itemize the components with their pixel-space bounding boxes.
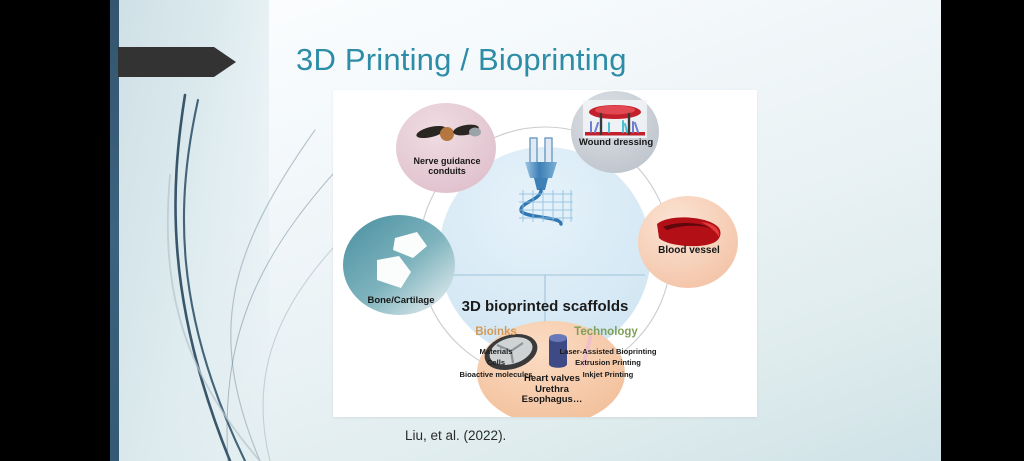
figure-caption: Liu, et al. (2022).: [405, 428, 506, 443]
bubble-blood-vessel: [638, 196, 738, 288]
arrow-banner-icon: [118, 44, 236, 80]
letterbox-left: [0, 0, 110, 461]
bubble-label-nerve-guidance-conduits: Nerve guidance conduits: [391, 156, 503, 176]
bone-line-0: Bone/Cartilage: [345, 296, 457, 307]
page-title: 3D Printing / Bioprinting: [296, 42, 627, 78]
bubble-label-bone-cartilage: Bone/Cartilage: [345, 296, 457, 307]
figure-column-head-technology: Technology: [551, 326, 661, 338]
figure-panel: 3D bioprinted scaffolds Bioinks Technolo…: [333, 90, 757, 417]
technology-item-1: Extrusion Printing: [547, 357, 669, 368]
bubble-label-wound-dressing: Wound dressing: [560, 138, 672, 149]
bubble-label-heart-valves: Heart valves Urethra Esophagus…: [493, 374, 611, 406]
screenshot-stage: 3D Printing / Bioprinting: [0, 0, 1024, 461]
slide-canvas: 3D Printing / Bioprinting: [110, 0, 941, 461]
figure-column-head-bioinks: Bioinks: [451, 326, 541, 338]
bubble-wound-dressing: [571, 91, 659, 173]
bioinks-item-1: Cells: [441, 357, 551, 368]
wound-line-0: Wound dressing: [560, 138, 672, 149]
nerve-line-1: conduits: [391, 166, 503, 176]
letterbox-right: [941, 0, 1024, 461]
bubble-nerve-guidance-conduits: [396, 103, 496, 193]
vessel-line-0: Blood vessel: [635, 245, 743, 256]
valves-line-2: Esophagus…: [493, 395, 611, 406]
nerve-line-0: Nerve guidance: [391, 156, 503, 166]
bioinks-item-0: Materials: [441, 346, 551, 357]
technology-item-0: Laser-Assisted Bioprinting: [547, 346, 669, 357]
bubble-label-blood-vessel: Blood vessel: [635, 245, 743, 256]
